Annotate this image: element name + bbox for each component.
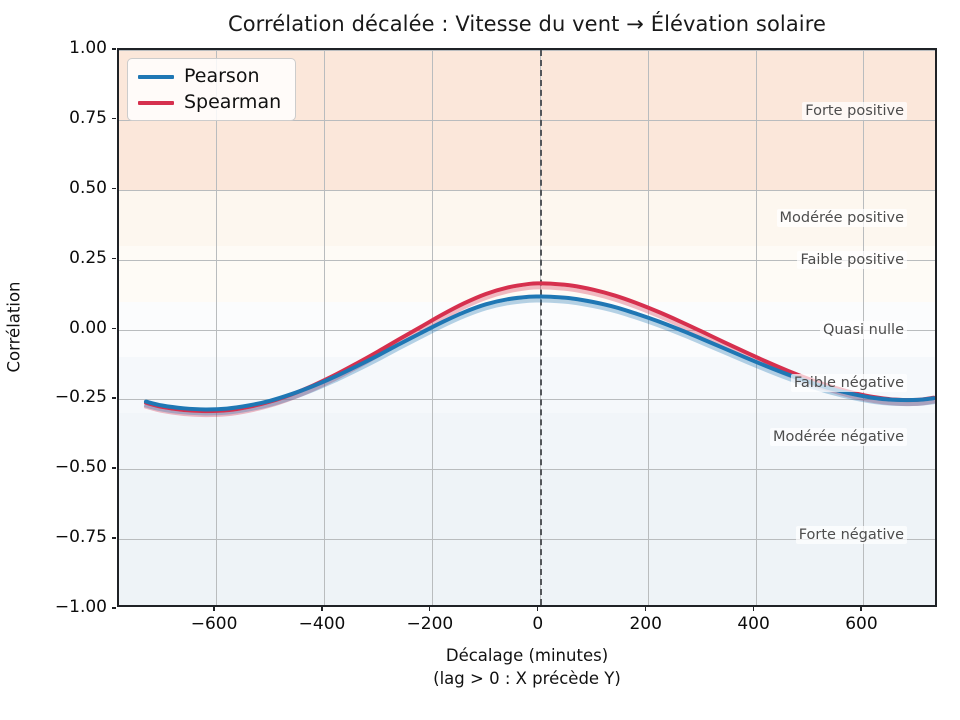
y-tick-label: −0.50 (55, 457, 107, 477)
x-tick-mark (321, 607, 323, 611)
y-tick-label: 0.25 (69, 248, 107, 268)
chart-title: Corrélation décalée : Vitesse du vent → … (0, 12, 960, 36)
legend-swatch-pearson (138, 75, 174, 79)
legend-swatch-spearman (138, 101, 174, 105)
chart-title-text: Corrélation décalée : Vitesse du vent → … (228, 12, 826, 36)
x-axis-label-main: Décalage (minutes) (117, 645, 937, 668)
legend-item-pearson[interactable]: Pearson (138, 67, 281, 86)
y-tick-mark (112, 607, 116, 609)
legend: PearsonSpearman (127, 58, 296, 121)
y-tick-mark (112, 118, 116, 120)
band-label-3: Quasi nulle (820, 321, 907, 339)
x-tick-mark (213, 607, 215, 611)
x-tick-label: 400 (737, 614, 769, 634)
y-tick-label: 0.50 (69, 178, 107, 198)
y-tick-label: 0.00 (69, 318, 107, 338)
x-axis-label: Décalage (minutes) (lag > 0 : X précède … (117, 645, 937, 691)
series-curves (119, 50, 937, 607)
chart-figure: Corrélation décalée : Vitesse du vent → … (0, 0, 960, 720)
x-tick-label: 600 (845, 614, 877, 634)
x-tick-label: −600 (191, 614, 238, 634)
x-tick-mark (753, 607, 755, 611)
y-tick-label: −0.75 (55, 527, 107, 547)
y-tick-label: −0.25 (55, 387, 107, 407)
x-tick-label: −400 (299, 614, 346, 634)
y-tick-mark (112, 258, 116, 260)
x-tick-mark (645, 607, 647, 611)
series-ghost-pearson (146, 300, 934, 413)
y-tick-mark (112, 328, 116, 330)
band-label-6: Forte négative (796, 526, 907, 544)
x-tick-mark (860, 607, 862, 611)
y-tick-label: 1.00 (69, 38, 107, 58)
band-label-0: Forte positive (802, 102, 907, 120)
legend-label: Pearson (184, 67, 260, 86)
legend-item-spearman[interactable]: Spearman (138, 93, 281, 112)
band-label-5: Modérée négative (770, 428, 907, 446)
band-label-1: Modérée positive (777, 209, 907, 227)
x-tick-label: −200 (407, 614, 454, 634)
y-tick-label: −1.00 (55, 597, 107, 617)
x-tick-mark (429, 607, 431, 611)
y-tick-mark (112, 537, 116, 539)
y-tick-mark (112, 467, 116, 469)
y-axis-label: Corrélation (5, 282, 24, 373)
x-axis-label-sub: (lag > 0 : X précède Y) (117, 668, 937, 691)
plot-area: Forte positiveModérée positiveFaible pos… (117, 48, 937, 607)
legend-label: Spearman (184, 93, 281, 112)
y-tick-label: 0.75 (69, 108, 107, 128)
band-label-2: Faible positive (797, 251, 907, 269)
series-line-pearson (146, 296, 934, 409)
x-tick-label: 0 (532, 614, 543, 634)
series-ghost-spearman (146, 287, 934, 415)
x-tick-mark (537, 607, 539, 611)
x-tick-label: 200 (629, 614, 661, 634)
y-tick-mark (112, 188, 116, 190)
y-tick-mark (112, 48, 116, 50)
band-label-4: Faible négative (791, 374, 907, 392)
y-tick-mark (112, 397, 116, 399)
